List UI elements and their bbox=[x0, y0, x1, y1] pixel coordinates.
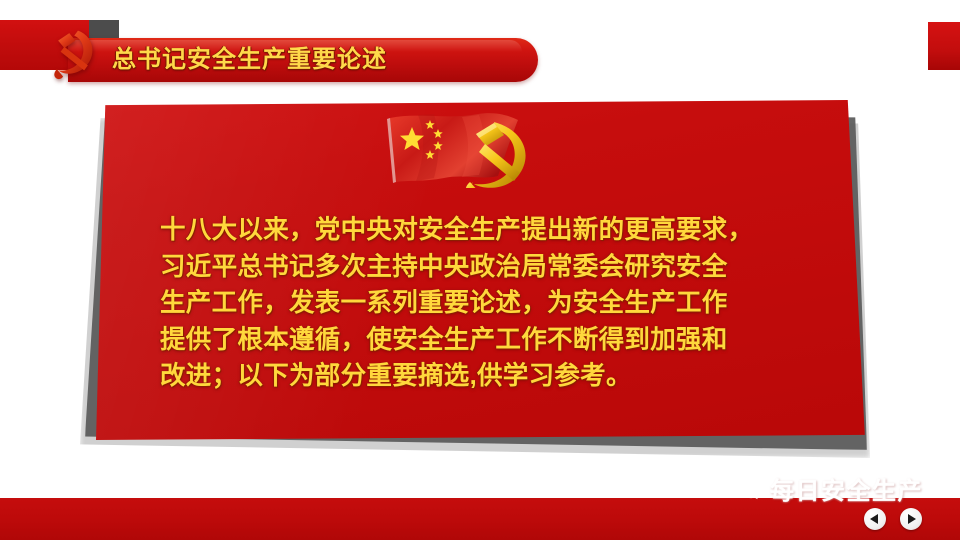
arrow-left-icon bbox=[870, 514, 878, 524]
body-paragraph: 十八大以来，党中央对安全生产提出新的更高要求， 习近平总书记多次主持中央政治局常… bbox=[160, 212, 832, 395]
next-slide-button[interactable] bbox=[900, 508, 922, 530]
arrow-right-icon bbox=[908, 514, 916, 524]
footer-brand: 每日安全生产 bbox=[728, 470, 923, 506]
slide-canvas: 总书记安全生产重要论述 bbox=[0, 0, 960, 540]
brand-name: 每日安全生产 bbox=[770, 471, 923, 506]
party-emblem-icon bbox=[40, 22, 106, 84]
wechat-icon bbox=[728, 473, 762, 503]
prev-slide-button[interactable] bbox=[864, 508, 886, 530]
flag-emblem-hero bbox=[378, 110, 548, 188]
page-title: 总书记安全生产重要论述 bbox=[112, 42, 387, 78]
slide-navigation bbox=[864, 508, 922, 530]
